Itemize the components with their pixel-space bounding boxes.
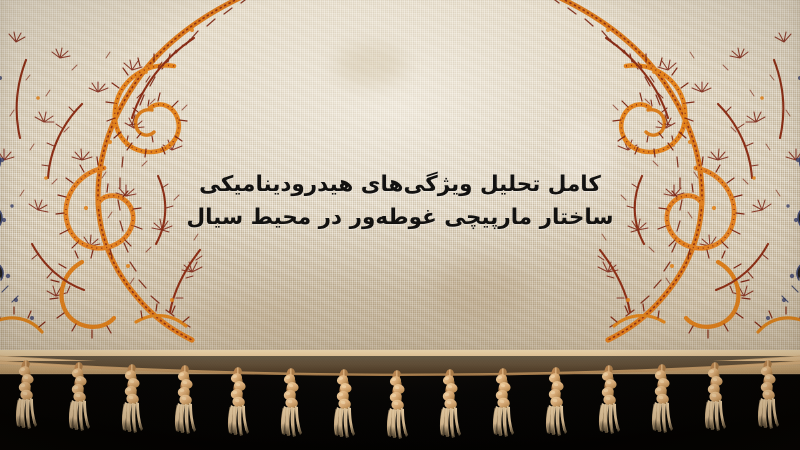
boteh-ornament-right — [514, 0, 800, 345]
slide-canvas: کامل تحلیل ویژگی‌های هیدرودینامیکی ساختا… — [0, 0, 800, 450]
boteh-ornament-left — [0, 0, 286, 345]
fabric-stain — [434, 258, 526, 322]
fabric-stain — [336, 44, 406, 86]
tassel-fringe — [0, 350, 800, 450]
